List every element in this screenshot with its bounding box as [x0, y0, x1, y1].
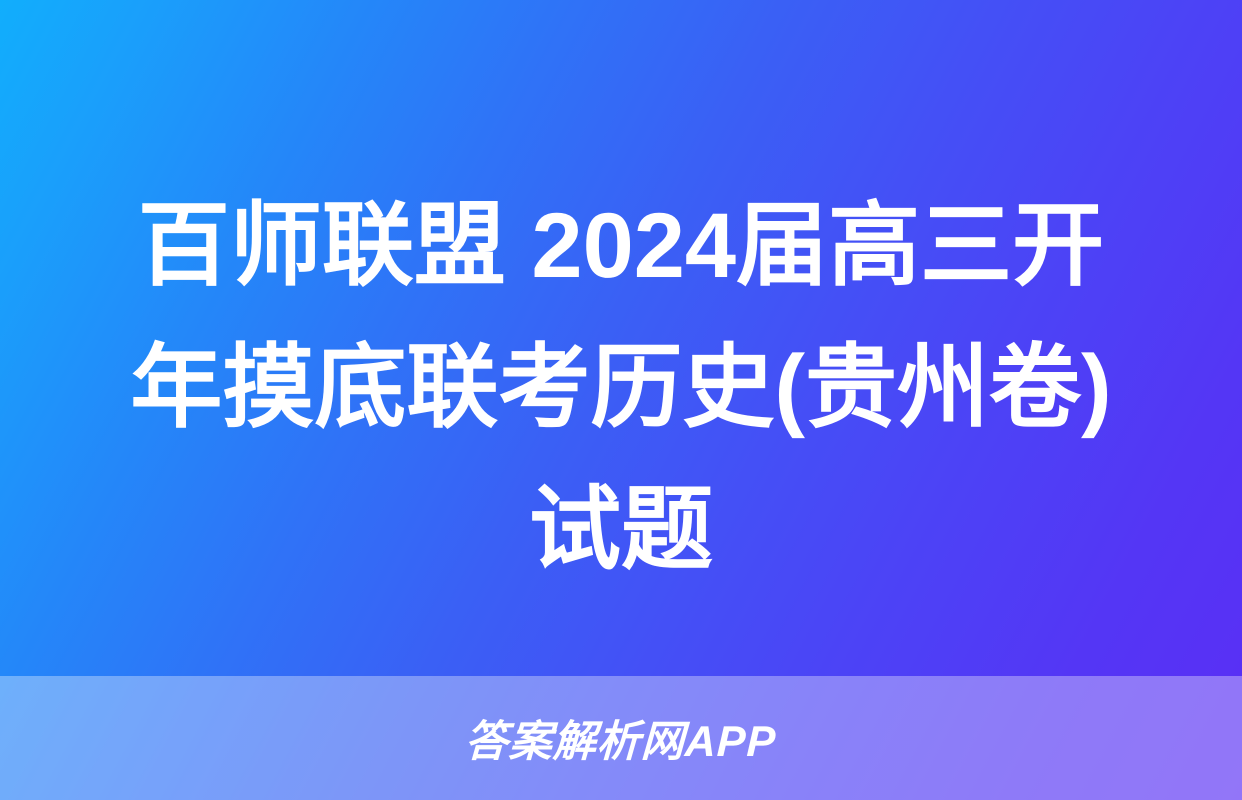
- watermark-band: 答案解析网APP: [0, 676, 1242, 800]
- title-line-1: 百师联盟 2024届高三开: [48, 175, 1194, 317]
- title-line-3: 试题: [48, 459, 1194, 601]
- poster-canvas: 百师联盟 2024届高三开 年摸底联考历史(贵州卷) 试题 答案解析网APP: [0, 0, 1242, 800]
- title-line-2: 年摸底联考历史(贵州卷): [48, 317, 1194, 459]
- watermark-app-label: 答案解析网APP: [464, 707, 778, 769]
- page-title: 百师联盟 2024届高三开 年摸底联考历史(贵州卷) 试题: [0, 175, 1242, 601]
